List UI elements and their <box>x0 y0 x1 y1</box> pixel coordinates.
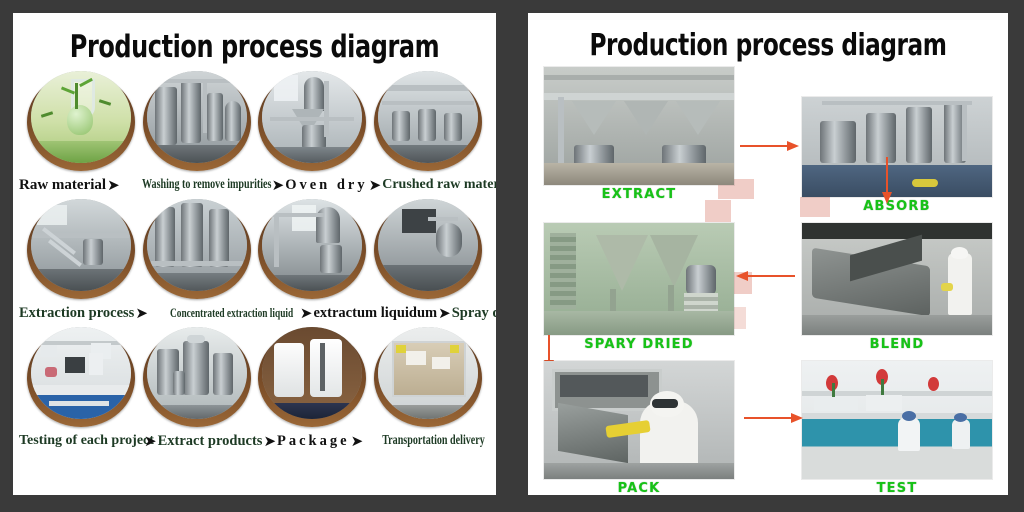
photo-extract-product-cans <box>147 327 247 419</box>
step-label-washing: Washing to remove impurities <box>142 177 250 193</box>
right-photo-grid: EXTRACT ABSORB <box>528 67 1008 495</box>
cell-absorb: ABSORB <box>802 97 992 217</box>
left-process-panel: Production process diagram <box>13 13 496 495</box>
process-row-2: Extraction process ➤ Concentrated extrac… <box>13 199 496 327</box>
step-thumb-washing <box>143 71 251 171</box>
step-thumb-package <box>258 327 366 427</box>
cell-caption-test: TEST <box>802 479 992 495</box>
right-row-1: EXTRACT ABSORB <box>544 67 992 217</box>
step-label-crushed-raw-materials: Crushed raw materials <box>382 177 496 193</box>
cell-caption-absorb: ABSORB <box>802 197 992 217</box>
step-label-concentrated-liquid: Concentrated extraction liquid <box>170 305 278 321</box>
step-label-extractum-liquidum: extractum liquidum <box>313 305 437 322</box>
photo-raw-plant-in-flask <box>31 71 131 163</box>
arrow-right-icon: ➤ <box>299 306 314 321</box>
arrow-right-icon: ➤ <box>437 306 452 321</box>
process-row-2-labels: Extraction process ➤ Concentrated extrac… <box>13 299 496 327</box>
photo-extraction-plant <box>31 199 131 291</box>
cell-blend: BLEND <box>802 223 992 355</box>
arrow-right-icon: ➤ <box>368 178 383 193</box>
right-process-panel: Production process diagram <box>528 13 1008 495</box>
arrow-right-icon: ➤ <box>271 178 286 193</box>
step-thumb-oven-dry <box>258 71 366 171</box>
step-label-transportation: Transportation delivery <box>382 433 476 449</box>
arrow-blend-to-spary-dried-icon <box>747 275 795 277</box>
step-thumb-concentrated-liquid <box>143 199 251 299</box>
cell-caption-pack: PACK <box>544 479 734 495</box>
process-row-1: Raw material ➤ Washing to remove impurit… <box>13 71 496 199</box>
right-row-3: PACK <box>544 361 992 495</box>
step-label-raw-material: Raw material <box>19 177 106 194</box>
step-thumb-testing <box>27 327 135 427</box>
photo-crushing-line <box>378 71 478 163</box>
photo-concentration-tanks <box>147 199 247 291</box>
process-row-1-labels: Raw material ➤ Washing to remove impurit… <box>13 171 496 199</box>
step-thumb-extract-products <box>143 327 251 427</box>
photo-quality-testing-laboratory <box>802 361 992 479</box>
arrow-pack-to-test-icon <box>744 417 792 419</box>
photo-evaporator <box>262 199 362 291</box>
photo-washing-tanks <box>147 71 247 163</box>
photo-blending-machine-operator <box>802 223 992 335</box>
arrow-right-icon: ➤ <box>134 306 149 321</box>
cell-caption-spary-dried: SPARY DRIED <box>544 335 734 355</box>
photo-packing-operator-machine <box>544 361 734 479</box>
cell-caption-blend: BLEND <box>802 335 992 355</box>
step-thumb-raw-material <box>27 71 135 171</box>
photo-spray-drying-tower <box>544 223 734 335</box>
right-panel-title: Production process diagram <box>562 28 975 63</box>
arrow-right-icon: ➤ <box>262 434 277 449</box>
photo-oven-dryer <box>262 71 362 163</box>
photo-testing-lab <box>31 327 131 419</box>
cell-test: TEST <box>802 361 992 495</box>
cell-caption-extract: EXTRACT <box>544 185 734 205</box>
photo-palletized-cartons <box>378 327 478 419</box>
step-thumb-extractum-liquidum <box>258 199 366 299</box>
step-label-testing: Testing of each project <box>19 433 143 449</box>
step-thumb-spray-drying <box>374 199 482 299</box>
arrow-right-icon: ➤ <box>143 434 158 449</box>
photo-extraction-tank-hall <box>544 67 734 185</box>
arrow-right-icon: ➤ <box>106 178 121 193</box>
cell-spary-dried: SPARY DRIED <box>544 223 734 355</box>
step-label-extract-products: Extract products <box>158 433 263 450</box>
arrow-spary-dried-to-pack-icon <box>548 335 550 361</box>
photo-spray-dryer <box>378 199 478 291</box>
right-row-2: SPARY DRIED BLEND <box>544 223 992 355</box>
cell-pack: PACK <box>544 361 734 495</box>
process-row-3-labels: Testing of each project ➤ Extract produc… <box>13 427 496 455</box>
step-label-spray-drying: Spray drying <box>452 305 496 322</box>
process-row-3: Testing of each project ➤ Extract produc… <box>13 327 496 455</box>
diagram-canvas: Production process diagram <box>0 0 1024 512</box>
left-panel-title: Production process diagram <box>47 29 462 65</box>
step-label-package: Package <box>277 433 350 450</box>
arrow-absorb-to-blend-icon <box>886 157 888 193</box>
step-label-oven-dry: Oven dry <box>285 177 367 194</box>
photo-absorption-column-room <box>802 97 992 197</box>
arrow-extract-to-absorb-icon <box>740 145 788 147</box>
step-thumb-extraction-process <box>27 199 135 299</box>
photo-packaging-bags <box>262 327 362 419</box>
step-thumb-transportation <box>374 327 482 427</box>
cell-extract: EXTRACT <box>544 67 734 217</box>
step-label-extraction-process: Extraction process <box>19 305 134 322</box>
panel-divider <box>496 0 528 512</box>
step-thumb-crushed-raw-materials <box>374 71 482 171</box>
arrow-right-icon: ➤ <box>350 434 365 449</box>
